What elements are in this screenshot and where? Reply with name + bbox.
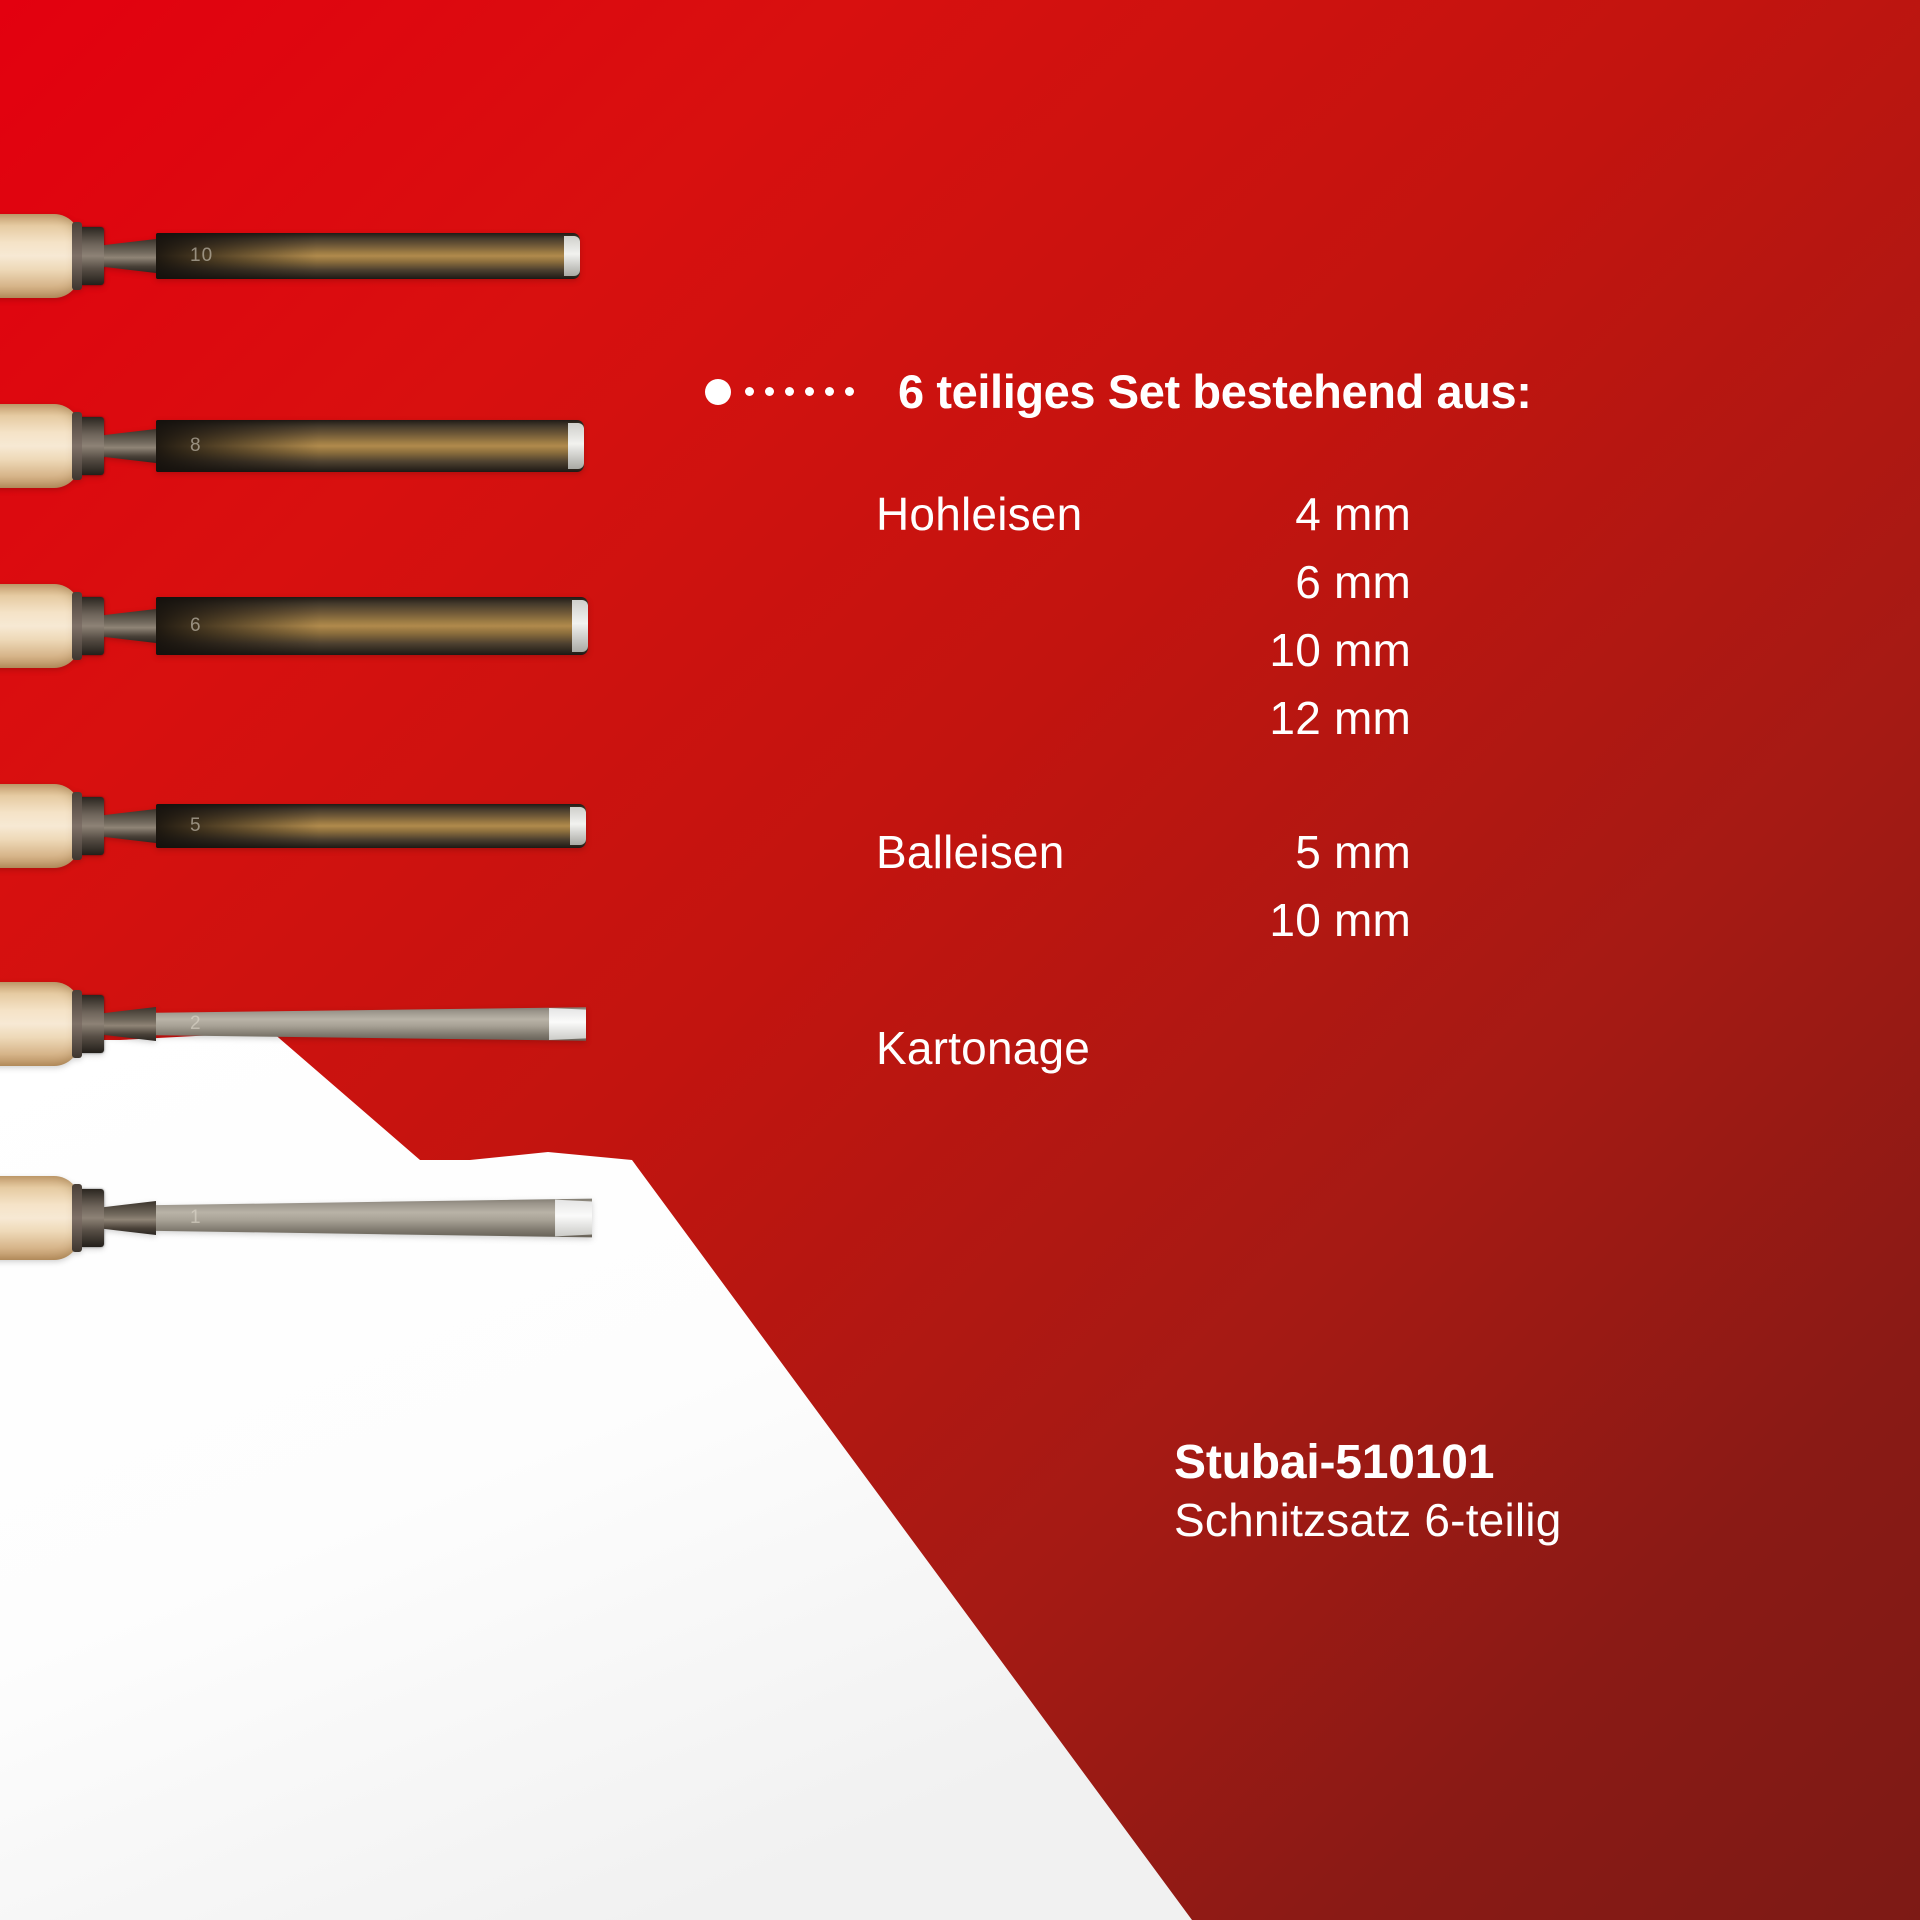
- product-code: Stubai-510101: [1174, 1435, 1794, 1492]
- spec-size-list: 4 mm 6 mm 10 mm 12 mm: [1201, 480, 1576, 752]
- wooden-handle: [0, 584, 80, 668]
- spec-list: Hohleisen 4 mm 6 mm 10 mm 12 mm Balleise…: [876, 480, 1576, 1082]
- gouge-blade: 8: [156, 420, 584, 472]
- blade-neck: [104, 1201, 156, 1235]
- spec-size: 5 mm: [1201, 818, 1411, 886]
- wooden-handle: [0, 1176, 80, 1260]
- spec-size-list: 5 mm 10 mm: [1201, 818, 1576, 954]
- gouge-blade: 10: [156, 233, 580, 279]
- dot-bullet-icon: [705, 379, 731, 405]
- spec-group-balleisen: Balleisen 5 mm 10 mm: [876, 818, 1576, 954]
- spec-size: 4 mm: [1201, 480, 1411, 548]
- blade-neck: [104, 809, 156, 843]
- tool-flat-chisel-2mm: 2: [0, 980, 586, 1068]
- tool-gouge-chisel-6mm: 6: [0, 582, 588, 670]
- spec-label: Hohleisen: [876, 480, 1201, 752]
- blade-stamp: 1: [190, 1207, 202, 1229]
- spec-group-hohleisen: Hohleisen 4 mm 6 mm 10 mm 12 mm: [876, 480, 1576, 752]
- blade-neck: [104, 1007, 156, 1041]
- tool-gouge-chisel-10mm: 10: [0, 212, 580, 300]
- spec-label: Balleisen: [876, 818, 1201, 954]
- spec-size-list: [1201, 1014, 1576, 1082]
- product-identification: Stubai-510101 Schnitzsatz 6-teilig: [1174, 1435, 1794, 1548]
- wooden-handle: [0, 784, 80, 868]
- spec-label: Kartonage: [876, 1014, 1201, 1082]
- spec-group-kartonage: Kartonage: [876, 1014, 1576, 1082]
- flat-blade: 2: [156, 1004, 586, 1044]
- tool-gouge-chisel-5mm: 5: [0, 782, 586, 870]
- gouge-blade: 5: [156, 804, 586, 848]
- spec-size: 12 mm: [1201, 684, 1411, 752]
- blade-stamp: 6: [190, 615, 202, 637]
- blade-stamp: 5: [190, 815, 202, 837]
- tool-flat-chisel-1mm: 1: [0, 1174, 592, 1262]
- product-banner: 10 8 6 5: [0, 0, 1920, 1920]
- wooden-handle: [0, 404, 80, 488]
- spec-spacer: [876, 752, 1576, 818]
- blade-stamp: 8: [190, 435, 202, 457]
- flat-blade: 1: [156, 1195, 592, 1241]
- wooden-handle: [0, 214, 80, 298]
- spec-spacer: [876, 954, 1576, 1014]
- spec-size: 10 mm: [1201, 616, 1411, 684]
- blade-stamp: 2: [190, 1013, 202, 1035]
- gouge-blade: 6: [156, 597, 588, 655]
- product-description: Schnitzsatz 6-teilig: [1174, 1492, 1794, 1548]
- wooden-handle: [0, 982, 80, 1066]
- tool-gouge-chisel-8mm: 8: [0, 402, 584, 490]
- set-heading-row: 6 teiliges Set bestehend aus:: [705, 368, 1532, 415]
- spec-size: 10 mm: [1201, 886, 1411, 954]
- blade-stamp: 10: [190, 245, 213, 267]
- blade-neck: [104, 609, 156, 643]
- dotted-leader-icon: [745, 387, 854, 396]
- spec-size: 6 mm: [1201, 548, 1411, 616]
- blade-neck: [104, 429, 156, 463]
- page-title: 6 teiliges Set bestehend aus:: [898, 368, 1532, 415]
- blade-neck: [104, 239, 156, 273]
